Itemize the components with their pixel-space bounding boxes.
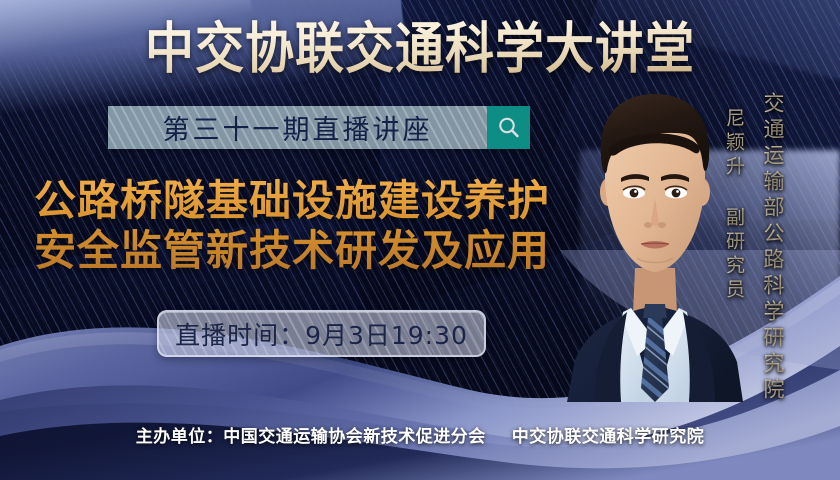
speaker-portrait-image <box>565 72 745 402</box>
lecture-topic-line-1: 公路桥隧基础设施建设养护 <box>34 176 582 226</box>
footer-co-organizer: 中交协联交通科学研究院 <box>512 427 705 447</box>
speaker-organization: 交通运输部公路科学研究院 <box>758 92 788 404</box>
footer-organizer: 主办单位：中国交通运输协会新技术促进分会 <box>136 427 486 447</box>
search-icon-container[interactable] <box>487 106 530 149</box>
lecture-topic-line-2: 安全监管新技术研发及应用 <box>34 226 582 276</box>
session-bar-body: 第三十一期直播讲座 <box>108 106 487 149</box>
search-icon <box>496 115 522 141</box>
speaker-name-title: 尼颖升 副研究员 <box>721 108 748 303</box>
live-lecture-poster: 中交协联交通科学大讲堂 第三十一期直播讲座 公路桥隧基础设施建设养护 安全监管新… <box>0 0 840 480</box>
session-bar-label: 第三十一期直播讲座 <box>163 108 433 147</box>
broadcast-time-label: 直播时间：9月3日19:30 <box>175 316 468 352</box>
session-bar: 第三十一期直播讲座 <box>108 106 530 149</box>
broadcast-time-badge: 直播时间：9月3日19:30 <box>157 310 486 357</box>
speaker-portrait <box>565 72 745 402</box>
footer-organizers: 主办单位：中国交通运输协会新技术促进分会中交协联交通科学研究院 <box>0 422 840 447</box>
lecture-topic: 公路桥隧基础设施建设养护 安全监管新技术研发及应用 <box>34 176 582 276</box>
